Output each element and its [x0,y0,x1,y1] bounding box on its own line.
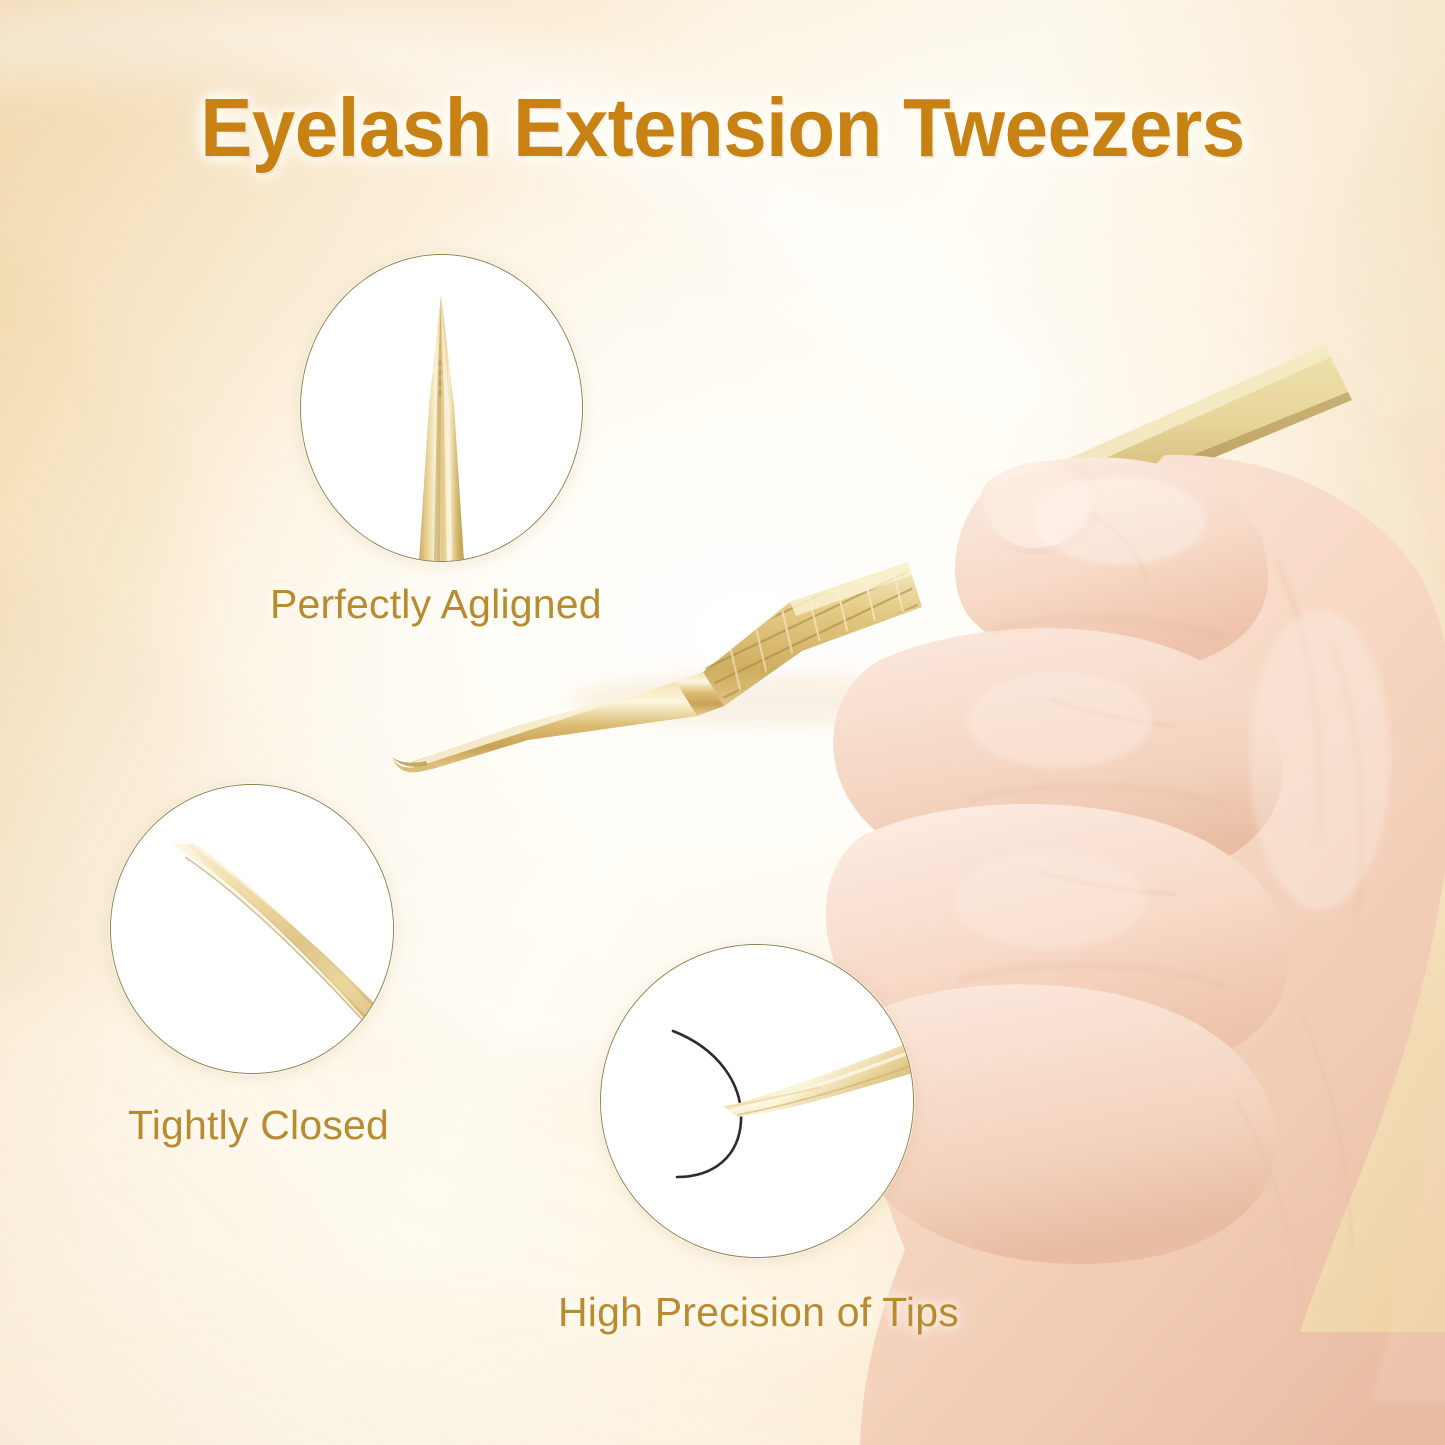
callout-3-image [601,945,913,1257]
callout-circle-tightly-closed [110,784,394,1074]
callout-circle-perfectly-aligned [300,254,583,562]
callout-caption-perfectly-aligned: Perfectly Agligned [270,581,602,628]
callout-caption-tightly-closed: Tightly Closed [128,1102,389,1149]
product-image-canvas: Eyelash Extension Tweezers [0,0,1445,1445]
callout-2-image [111,785,393,1073]
callout-circle-high-precision [600,944,914,1258]
callout-1-image [301,255,582,561]
callout-caption-high-precision: High Precision of Tips [558,1289,959,1336]
page-title: Eyelash Extension Tweezers [43,84,1401,171]
